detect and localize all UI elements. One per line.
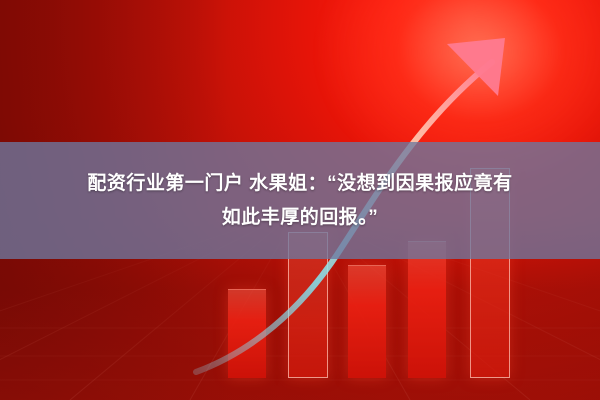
banner-image: 配资行业第一门户 水果姐：“没想到因果报应竟有 如此丰厚的回报。” (0, 0, 600, 400)
caption-banner: 配资行业第一门户 水果姐：“没想到因果报应竟有 如此丰厚的回报。” (0, 142, 600, 259)
caption-line-2: 如此丰厚的回报。” (222, 207, 379, 228)
caption-line-1: 配资行业第一门户 水果姐：“没想到因果报应竟有 (87, 173, 512, 194)
caption-text: 配资行业第一门户 水果姐：“没想到因果报应竟有 如此丰厚的回报。” (87, 167, 512, 235)
